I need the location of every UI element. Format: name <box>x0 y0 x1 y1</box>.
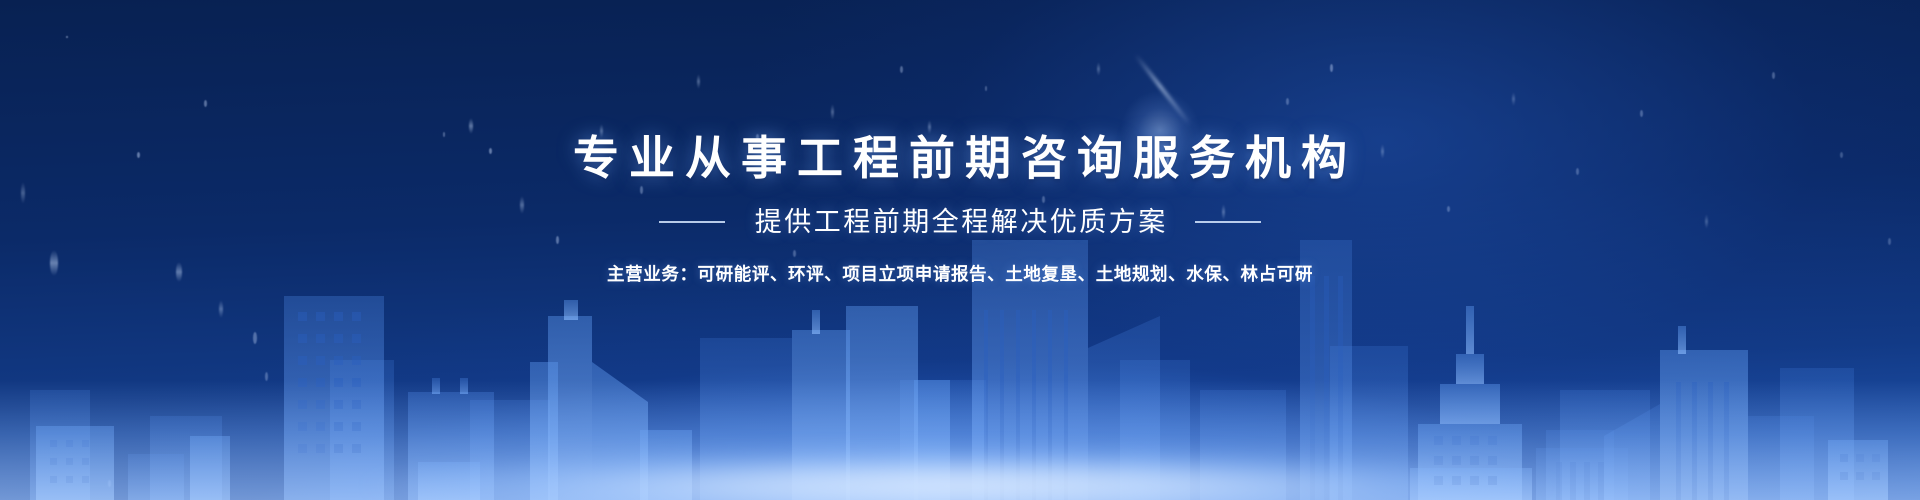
banner-title: 专业从事工程前期咨询服务机构 <box>0 132 1920 184</box>
right-rule-divider <box>1195 221 1261 223</box>
left-rule-divider <box>659 221 725 223</box>
banner-subtitle: 提供工程前期全程解决优质方案 <box>752 206 1168 238</box>
hero-banner: 专业从事工程前期咨询服务机构 提供工程前期全程解决优质方案 主营业务：可研能评、… <box>0 0 1920 500</box>
banner-tagline: 主营业务：可研能评、环评、项目立项申请报告、土地复垦、土地规划、水保、林占可研 <box>0 262 1920 286</box>
banner-content: 专业从事工程前期咨询服务机构 提供工程前期全程解决优质方案 主营业务：可研能评、… <box>0 0 1920 286</box>
banner-subtitle-row: 提供工程前期全程解决优质方案 <box>0 206 1920 238</box>
